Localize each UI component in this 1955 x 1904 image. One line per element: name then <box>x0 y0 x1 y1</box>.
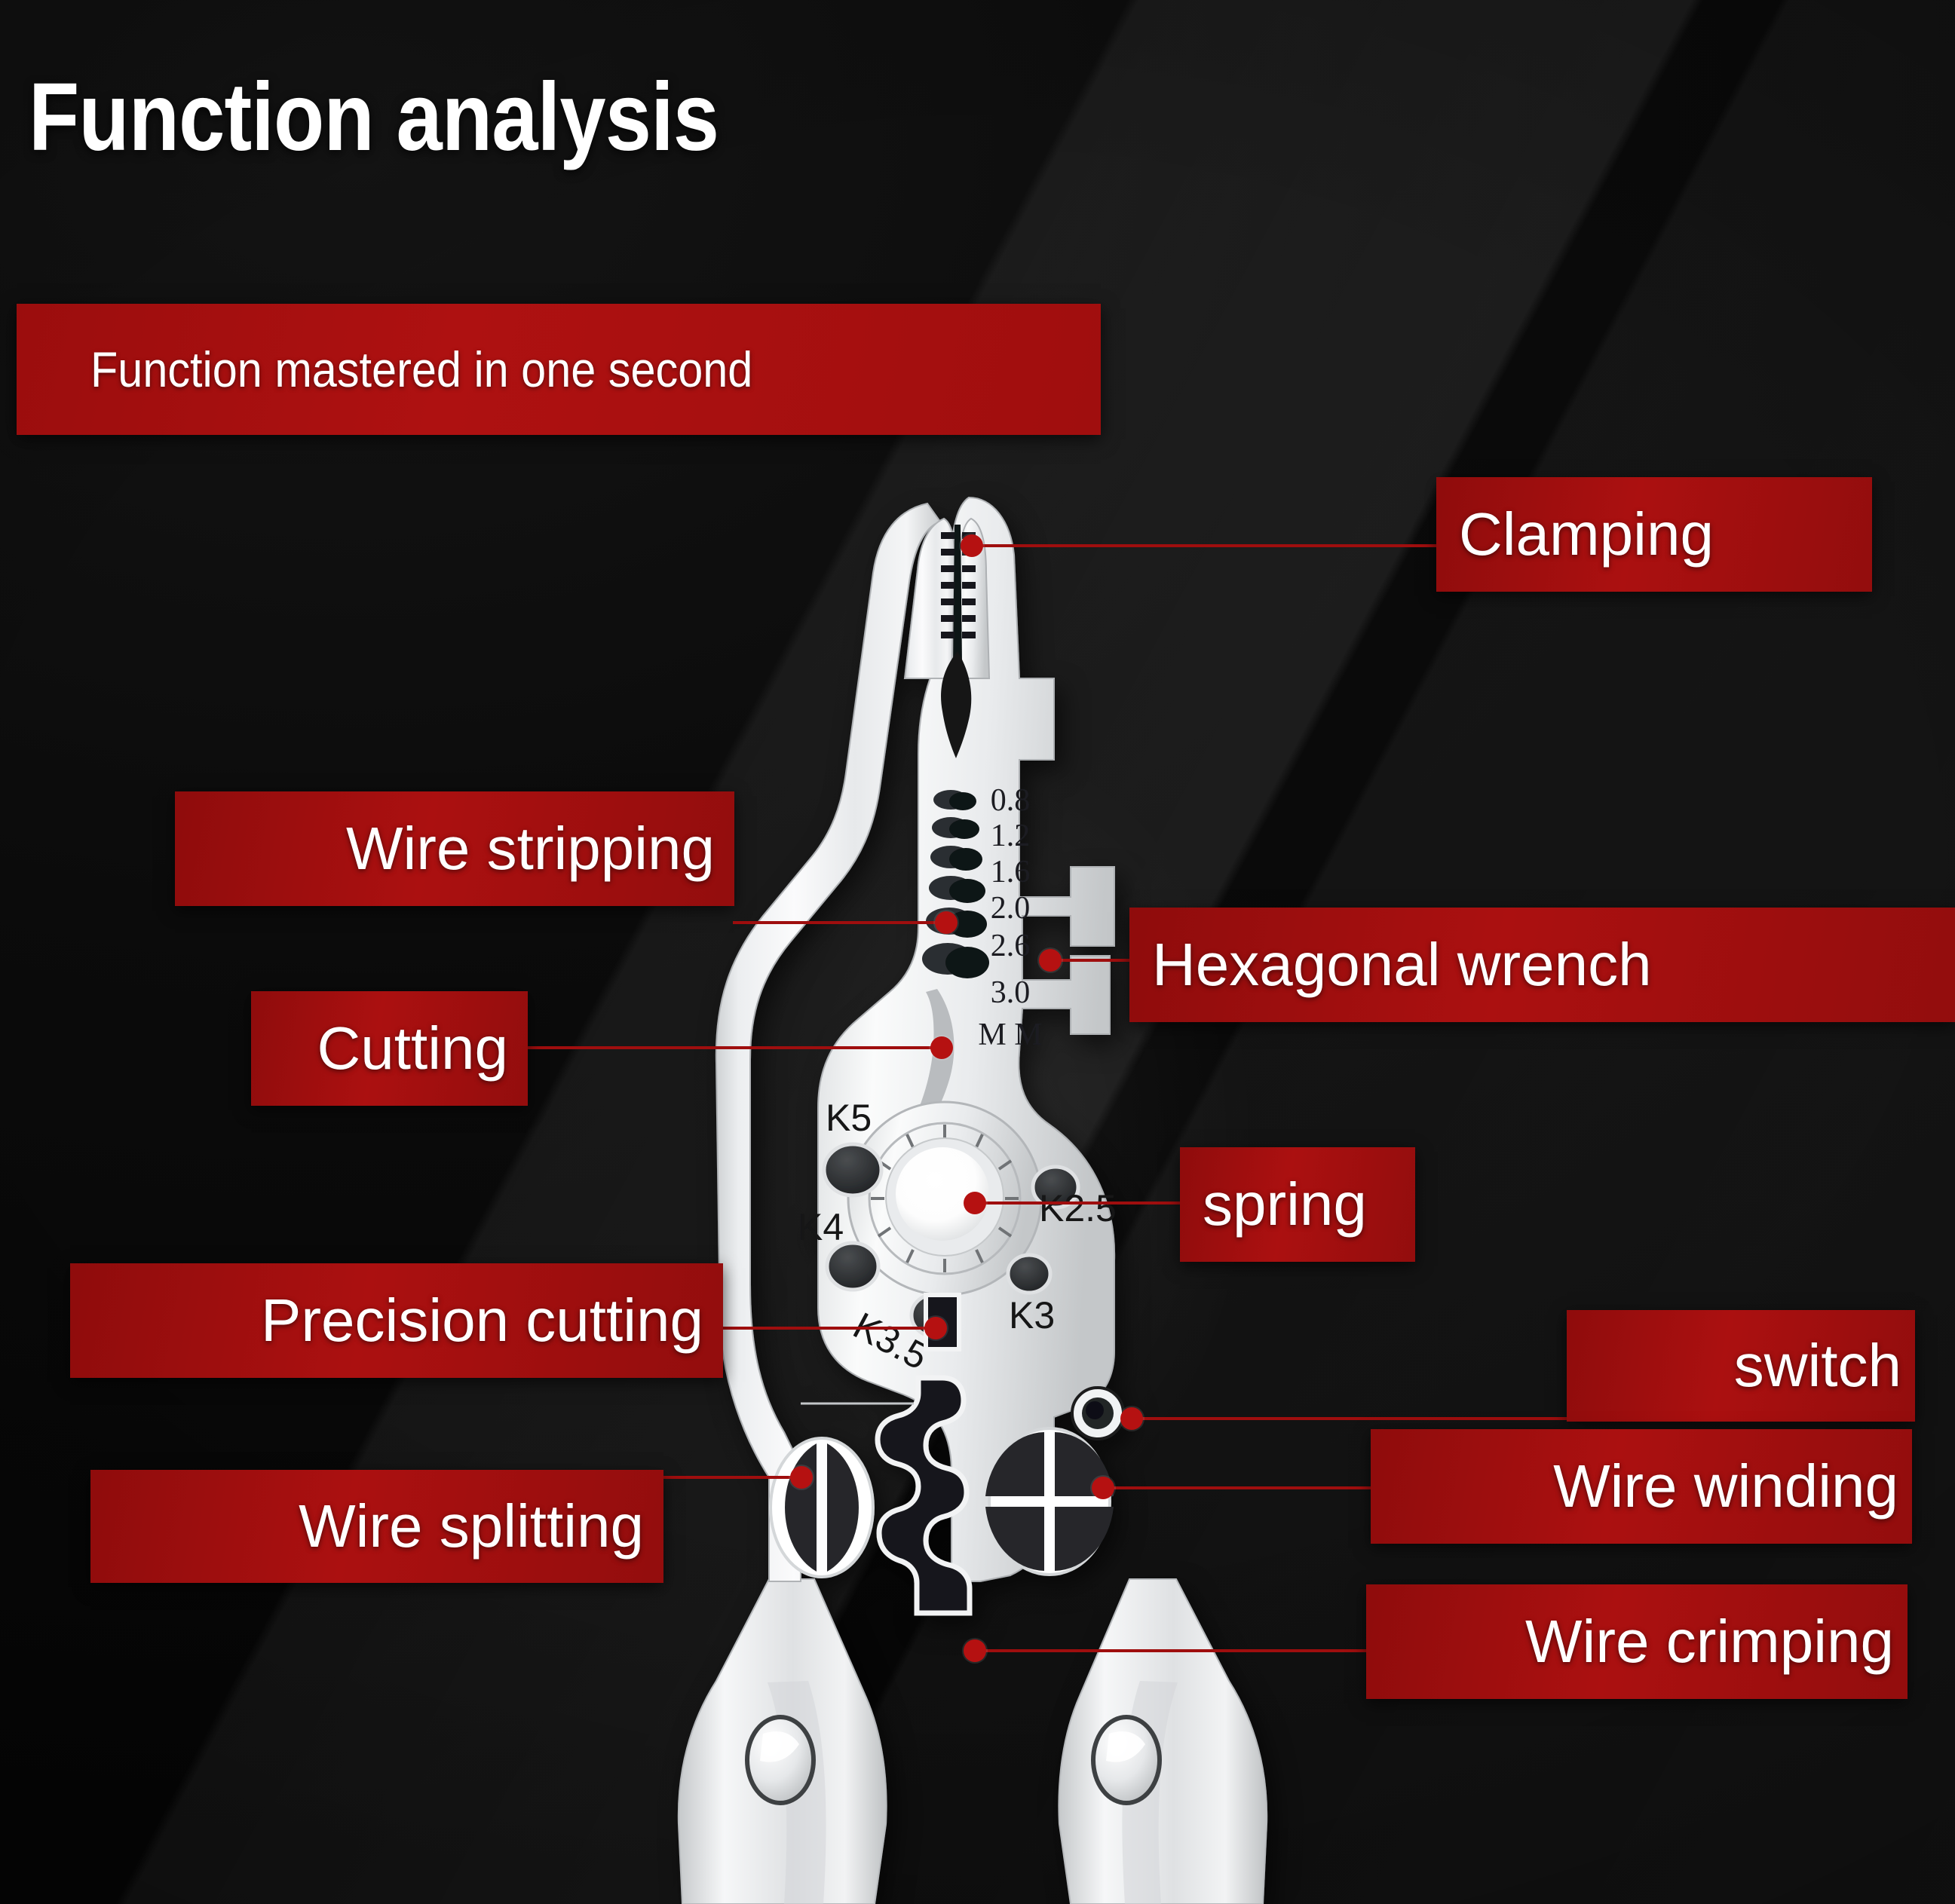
callout-precision-cutting[interactable]: Precision cutting <box>70 1263 723 1378</box>
callout-label-wire-winding: Wire winding <box>1553 1456 1912 1517</box>
callout-label-wire-crimping: Wire crimping <box>1525 1612 1908 1672</box>
callout-wire-crimping[interactable]: Wire crimping <box>1366 1584 1908 1699</box>
subtitle-text: Function mastered in one second <box>90 344 752 394</box>
callout-wire-stripping[interactable]: Wire stripping <box>175 791 734 906</box>
callout-clamping[interactable]: Clamping <box>1436 477 1872 592</box>
callout-wire-winding[interactable]: Wire winding <box>1371 1429 1912 1544</box>
leader-dot-spring <box>964 1192 986 1214</box>
leader-line-wire-splitting <box>663 1476 807 1479</box>
leader-dot-switch <box>1120 1407 1143 1430</box>
leader-dot-cutting <box>930 1036 953 1059</box>
leader-dot-hexagonal-wrench <box>1039 949 1062 972</box>
leader-line-spring <box>973 1201 1184 1205</box>
callout-cutting[interactable]: Cutting <box>251 991 528 1106</box>
page-title: Function analysis <box>29 69 719 166</box>
callout-label-spring: spring <box>1180 1174 1367 1235</box>
leader-line-wire-winding <box>1108 1486 1372 1489</box>
callout-hexagonal-wrench[interactable]: Hexagonal wrench <box>1129 908 1955 1022</box>
subtitle-banner: Function mastered in one second <box>17 304 1101 435</box>
callout-label-wire-stripping: Wire stripping <box>346 819 734 879</box>
leader-dot-wire-stripping <box>935 911 958 934</box>
callout-wire-splitting[interactable]: Wire splitting <box>90 1470 663 1583</box>
callout-label-switch: switch <box>1734 1336 1915 1396</box>
callout-switch[interactable]: switch <box>1567 1310 1915 1422</box>
leader-line-clamping <box>980 544 1448 547</box>
leader-line-wire-crimping <box>980 1649 1372 1652</box>
callout-label-precision-cutting: Precision cutting <box>261 1290 723 1351</box>
leader-dot-clamping <box>961 534 983 557</box>
callout-label-cutting: Cutting <box>317 1018 528 1079</box>
leader-dot-precision-cutting <box>924 1317 947 1339</box>
leader-dot-wire-crimping <box>964 1639 986 1662</box>
leader-line-hexagonal-wrench <box>1050 959 1132 962</box>
infographic-canvas: 0.8 1.2 1.6 2.0 2.6 3.0 M M <box>0 0 1955 1904</box>
leader-line-switch <box>1138 1417 1568 1420</box>
leader-line-cutting <box>526 1046 948 1049</box>
callout-spring[interactable]: spring <box>1180 1147 1415 1262</box>
leader-dot-wire-winding <box>1092 1477 1114 1499</box>
leader-dot-wire-splitting <box>790 1466 813 1489</box>
callout-label-clamping: Clamping <box>1436 504 1714 565</box>
callout-label-hexagonal-wrench: Hexagonal wrench <box>1129 935 1652 995</box>
leader-line-precision-cutting <box>718 1327 944 1330</box>
callout-label-wire-splitting: Wire splitting <box>299 1496 663 1557</box>
leader-line-wire-stripping <box>733 921 951 924</box>
